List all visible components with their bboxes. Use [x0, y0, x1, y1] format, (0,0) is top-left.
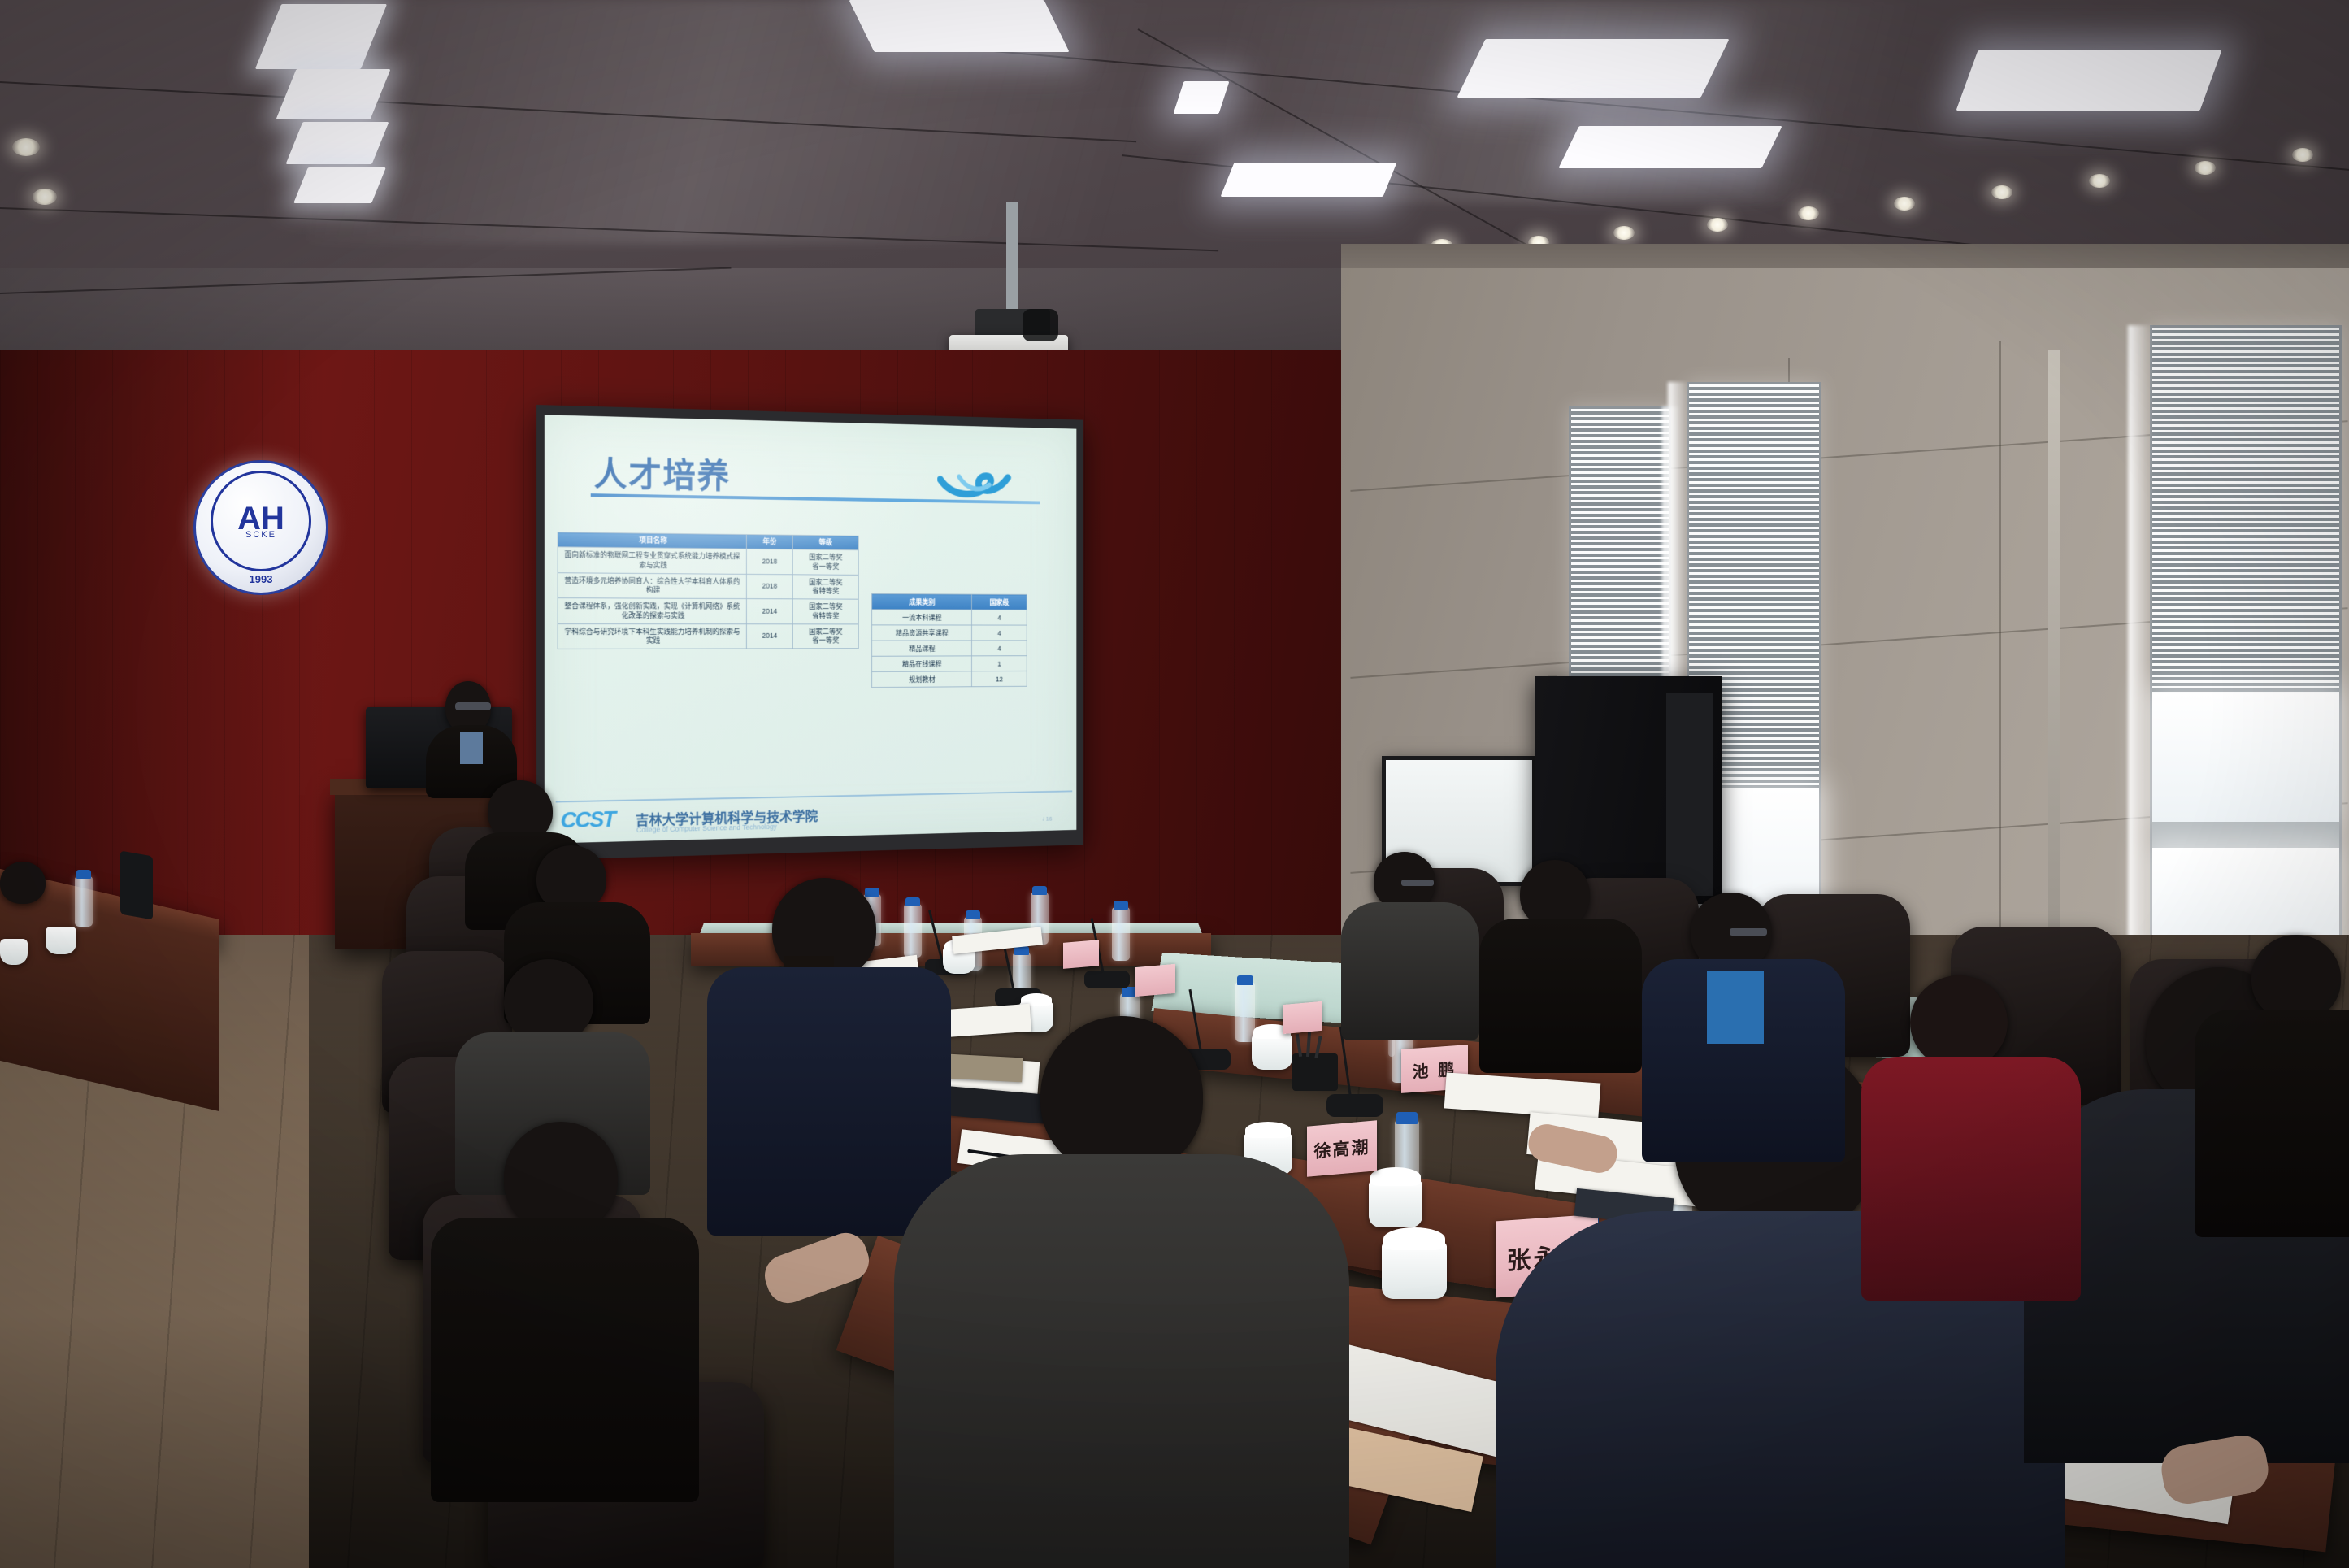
person-body [2195, 1010, 2349, 1237]
cell-year: 2018 [747, 549, 793, 574]
slide-footer-acronym: CCST [561, 806, 615, 833]
cell-year: 2014 [747, 599, 793, 624]
table-row: 面向新标准的物联网工程专业贯穿式系统能力培养模式探索与实践 2018 国家二等奖… [558, 547, 858, 575]
window-blinds[interactable] [2152, 328, 2339, 693]
ceiling-light-panel [849, 0, 1069, 52]
ceiling-downlight [2195, 161, 2216, 175]
projector-cables [1023, 309, 1058, 341]
cell-project-name: 学科综合与研究环境下本科生实践能力培养机制的探索与实践 [558, 623, 746, 649]
wall-panel-seam [1999, 341, 2001, 1008]
person-body [1861, 1057, 2081, 1301]
bottle-cap [1014, 946, 1029, 955]
cell-category: 精品资源共享课程 [872, 625, 972, 641]
cell-category: 一流本科课程 [872, 610, 972, 625]
person-body [1341, 902, 1479, 1040]
ceiling-downlight [1798, 206, 1819, 220]
water-bottle[interactable] [904, 904, 922, 958]
nameplate [1283, 1001, 1322, 1034]
conference-room-photo: AH SCKE 1993 人才培养 [0, 0, 2349, 1568]
nameplate [1063, 940, 1099, 969]
bottle-cap [1032, 886, 1047, 895]
projector-pole [1006, 202, 1018, 315]
bottle-cap [865, 888, 879, 897]
table-row: 规划教材 12 [872, 671, 1027, 687]
cell-count: 4 [971, 641, 1027, 656]
window-frame-post [2048, 350, 2060, 951]
col-national-level: 国家级 [971, 594, 1027, 610]
tea-cup-lid [1245, 1122, 1291, 1138]
ceiling-downlight [1707, 218, 1728, 232]
table-row: 一流本科课程 4 [872, 610, 1027, 625]
ceiling-downlight [1894, 197, 1915, 211]
rack-door[interactable] [1666, 693, 1713, 896]
person-head [2251, 935, 2341, 1021]
tea-cup[interactable] [1382, 1242, 1447, 1299]
tea-cup[interactable] [1369, 1180, 1422, 1227]
slide-page-number: / 16 [1043, 815, 1053, 823]
cell-grade: 国家二等奖 省一等奖 [792, 624, 858, 649]
tea-cup-lid [1370, 1167, 1421, 1186]
cell-grade: 国家二等奖 省一等奖 [792, 549, 858, 575]
glasses [1401, 880, 1434, 886]
table-row: 精品课程 4 [872, 641, 1027, 656]
cell-year: 2018 [747, 574, 793, 599]
cell-category: 精品在线课程 [872, 656, 972, 672]
pen-holder[interactable] [1292, 1053, 1338, 1091]
cell-count: 12 [971, 671, 1027, 686]
university-wall-emblem: AH SCKE 1993 [193, 460, 328, 595]
tea-cup[interactable] [1252, 1034, 1292, 1070]
laptop-left[interactable] [120, 850, 153, 919]
water-bottle[interactable] [75, 876, 93, 927]
table-row: 精品资源共享课程 4 [872, 625, 1027, 641]
person-body [707, 967, 951, 1236]
glasses [1730, 928, 1767, 936]
table-row: 整合课程体系，强化创新实践，实现《计算机网络》系统化改革的探索与实践 2014 … [558, 598, 858, 624]
water-bottle[interactable] [1235, 982, 1255, 1042]
table-row: 营造环境多元培养协同育人：综合性大学本科育人体系的构建 2018 国家二等奖 省… [558, 572, 858, 599]
ceiling-light-panel [1956, 50, 2222, 111]
ceiling-light-panel [1558, 126, 1782, 168]
cell-count: 4 [971, 625, 1027, 641]
water-bottle[interactable] [1112, 907, 1130, 961]
ceiling-light-panel [293, 167, 386, 203]
col-grade: 等级 [792, 535, 858, 550]
person-head [1040, 1016, 1203, 1175]
col-year: 年份 [747, 535, 793, 549]
ceiling-downlight [33, 189, 57, 205]
window-glass-upper [2152, 693, 2339, 822]
cell-count: 4 [971, 610, 1027, 625]
tea-cup[interactable] [0, 939, 28, 965]
window-mullion [2152, 822, 2339, 848]
cell-category: 精品课程 [872, 641, 972, 656]
slide-left-table: 项目名称 年份 等级 面向新标准的物联网工程专业贯穿式系统能力培养模式探索与实践… [558, 532, 859, 649]
ceiling-light-panel [285, 122, 389, 164]
slide-heading: 人才培养 [594, 447, 732, 498]
ceiling-downlight [1991, 185, 2012, 199]
window [2150, 325, 2342, 972]
tea-cup-lid [1383, 1227, 1445, 1250]
bottle-cap [1114, 901, 1128, 910]
bottle-cap [76, 870, 91, 879]
bottle-cap [1237, 975, 1253, 985]
emblem-subtext: SCKE [245, 530, 276, 540]
nameplate [1135, 964, 1175, 997]
presenter-glasses [455, 702, 491, 710]
slide-footer-rule [556, 790, 1073, 802]
microphone-base[interactable] [1084, 971, 1130, 988]
nameplate-xu-gaochao: 徐高潮 [1307, 1120, 1377, 1177]
projected-slide: 人才培养 项目名称 年份 等级 面向新标准的物联网工程专业贯 [545, 415, 1076, 843]
slide-right-table: 成果类别 国家级 一流本科课程 4 精品资源共享课程 4 精品课程 [871, 593, 1027, 688]
projection-screen: 人才培养 项目名称 年份 等级 面向新标准的物联网工程专业贯 [536, 405, 1083, 860]
bottle-cap [1396, 1112, 1418, 1124]
bottle-cap [966, 910, 980, 919]
ceiling-downlight [12, 138, 40, 156]
ceiling-downlight [1613, 226, 1635, 240]
presenter-shirt [460, 732, 483, 764]
ceiling-light-panel [1221, 163, 1397, 197]
ceiling-light-panel [1457, 39, 1729, 98]
blue-shirt [1707, 971, 1764, 1044]
cell-grade: 国家二等奖 省特等奖 [792, 575, 858, 600]
ceiling-downlight [2089, 174, 2110, 188]
person-head [0, 862, 46, 904]
person-body [894, 1154, 1349, 1568]
person-head [1910, 975, 2008, 1070]
cell-project-name: 面向新标准的物联网工程专业贯穿式系统能力培养模式探索与实践 [558, 547, 746, 574]
jlu-swoosh-logo [937, 466, 1016, 502]
cell-project-name: 营造环境多元培养协同育人：综合性大学本科育人体系的构建 [558, 572, 746, 598]
cell-category: 规划教材 [872, 671, 972, 688]
table-row: 精品在线课程 1 [872, 656, 1027, 672]
person-body [1479, 919, 1642, 1073]
ceiling-downlight [2292, 148, 2313, 162]
person-head [504, 959, 593, 1044]
col-project-name: 项目名称 [558, 532, 746, 549]
emblem-year: 1993 [250, 573, 273, 585]
cell-count: 1 [971, 656, 1027, 671]
cell-grade: 国家二等奖 省特等奖 [792, 599, 858, 624]
microphone-base[interactable] [1326, 1094, 1383, 1117]
person-body [431, 1218, 699, 1502]
bottle-cap [905, 897, 920, 906]
col-result-category: 成果类别 [872, 594, 972, 610]
tea-cup[interactable] [46, 927, 76, 954]
cell-year: 2014 [747, 624, 793, 649]
person-head [504, 1122, 618, 1232]
cell-project-name: 整合课程体系，强化创新实践，实现《计算机网络》系统化改革的探索与实践 [558, 598, 746, 624]
window-light-glow [2128, 325, 2152, 967]
table-header-row: 成果类别 国家级 [872, 594, 1027, 610]
table-row: 学科综合与研究环境下本科生实践能力培养机制的探索与实践 2014 国家二等奖 省… [558, 623, 858, 649]
